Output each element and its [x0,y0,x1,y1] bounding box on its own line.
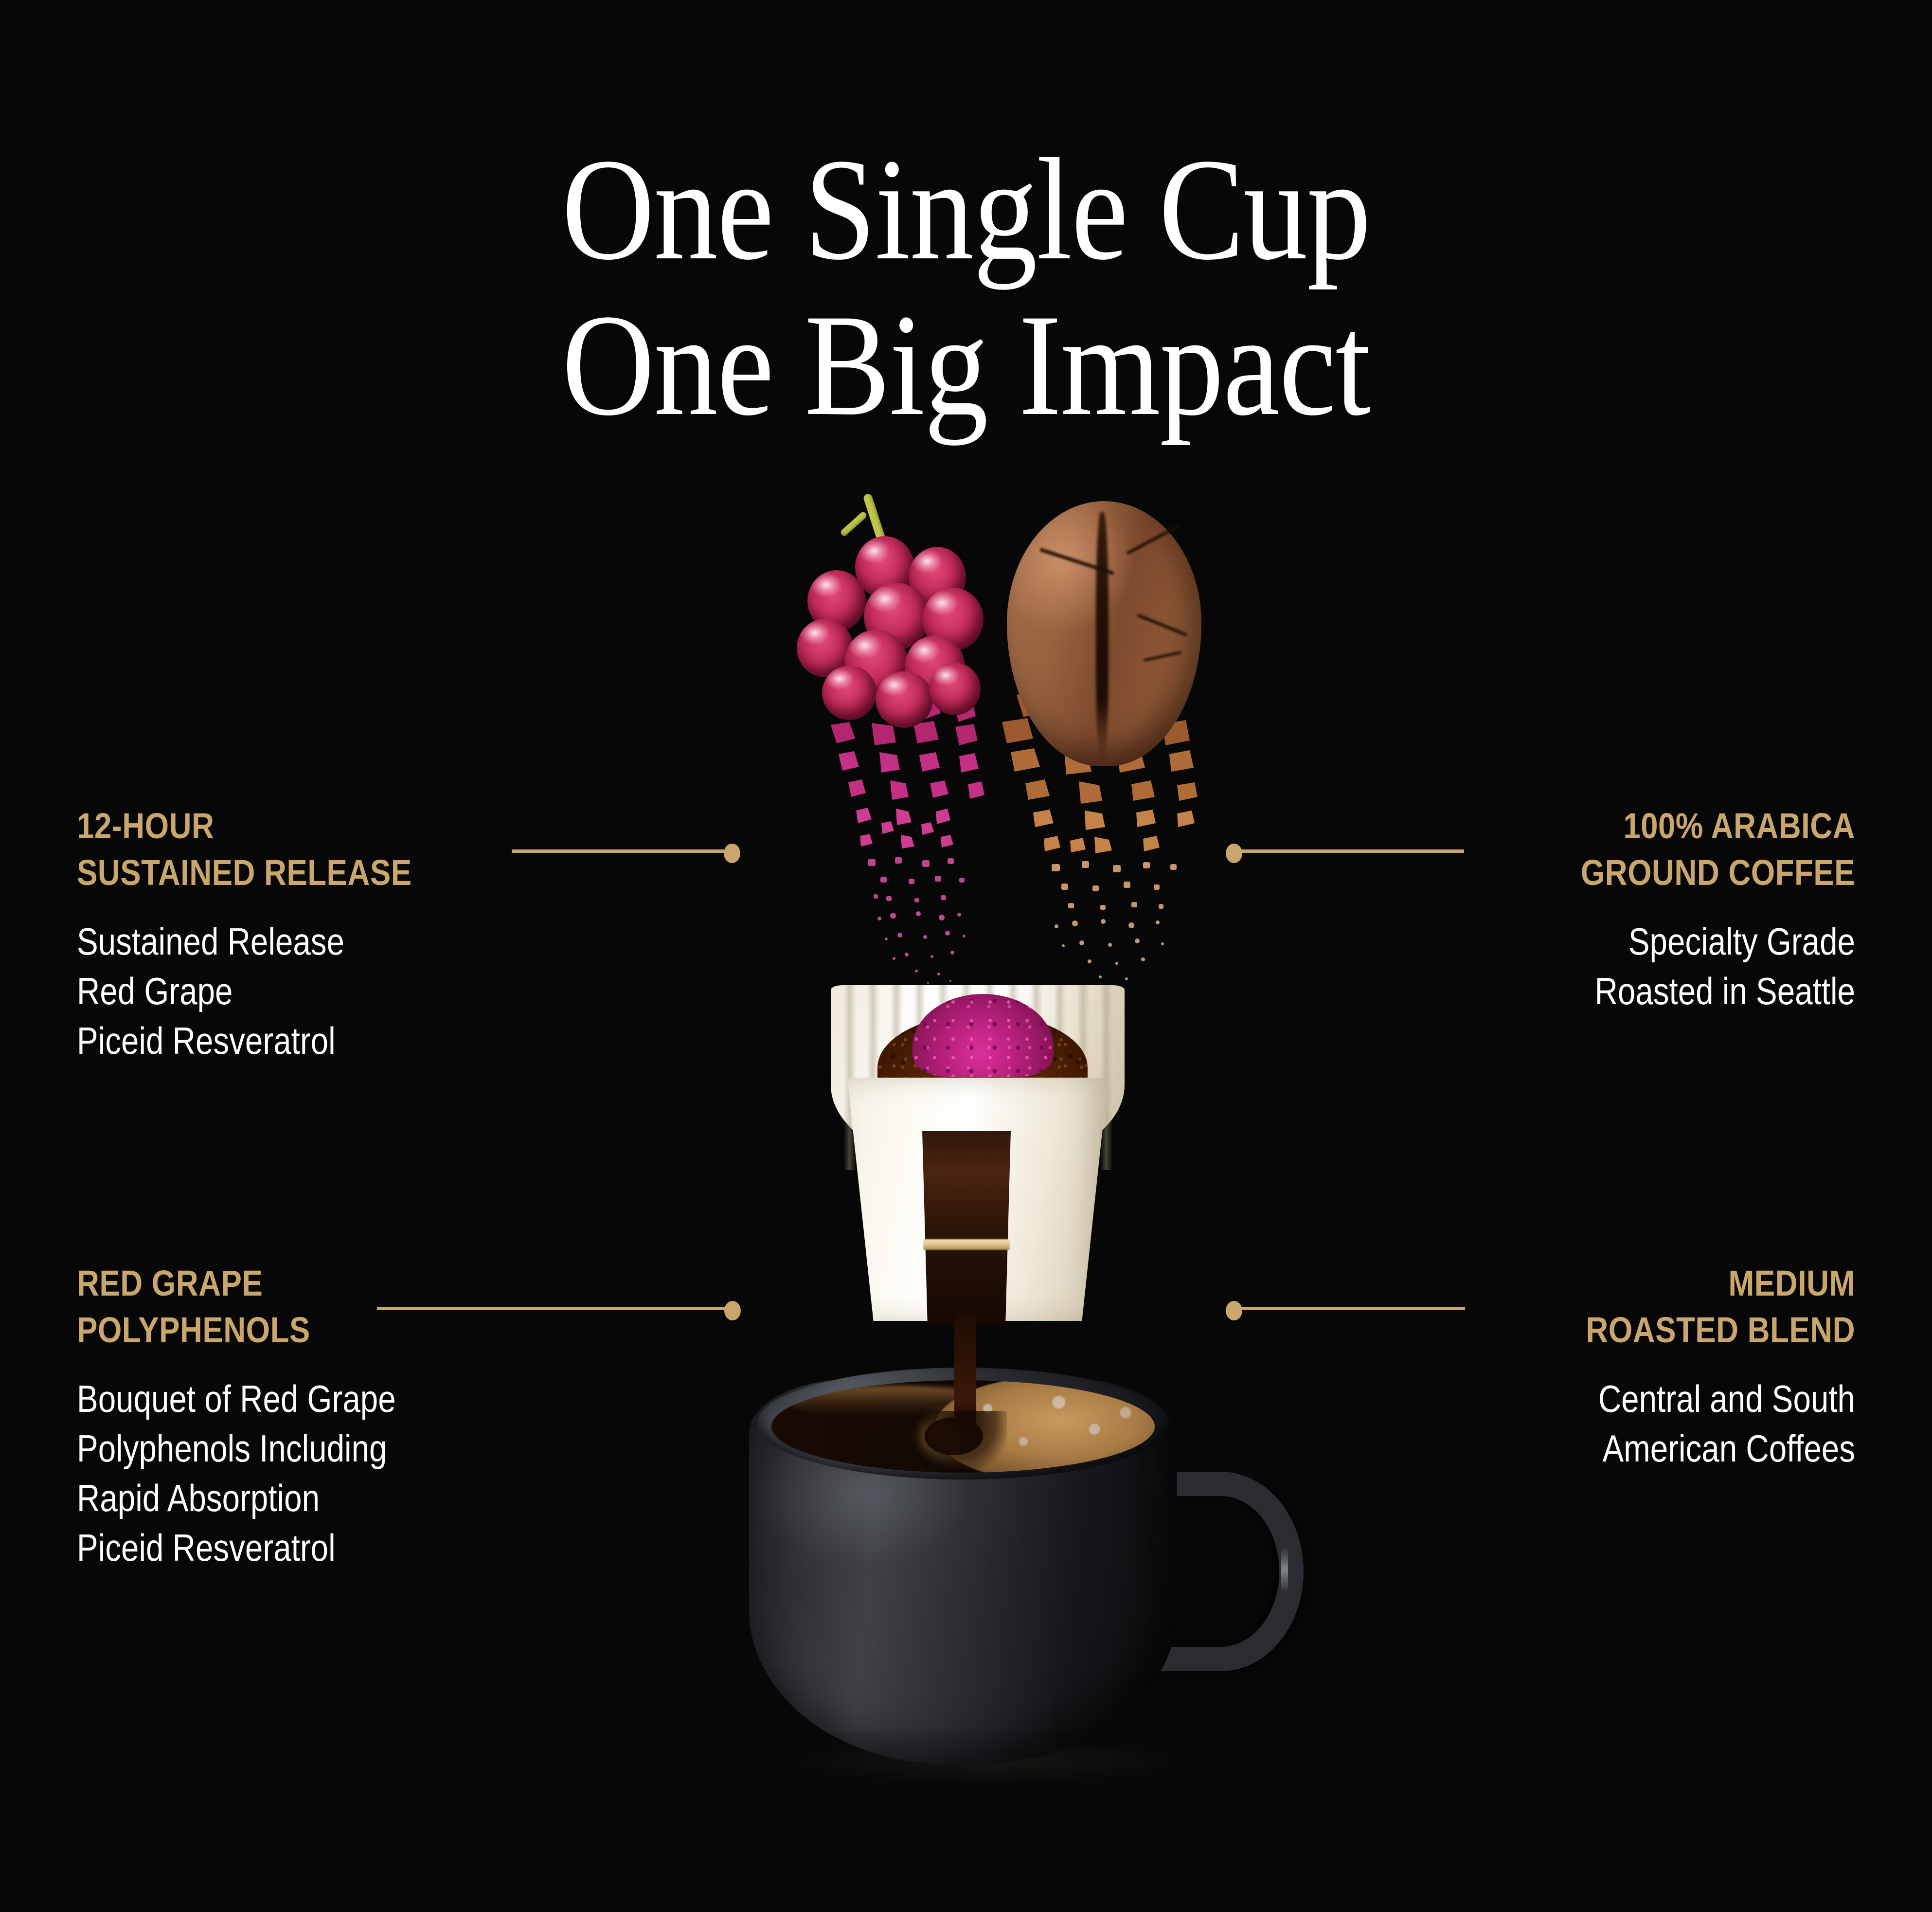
callout-body: Bouquet of Red Grape Polyphenols Includi… [77,1374,526,1572]
title-line-2: One Big Impact [116,287,1816,443]
callout-arabica-ground-coffee: 100% ARABICA GROUND COFFEE Specialty Gra… [1320,803,1855,1016]
grape-berry [822,666,877,720]
filter-crema-line [923,1239,1010,1250]
callout-heading-line-1: 100% ARABICA [1395,803,1855,849]
coffee-bean-center-crack [1096,512,1109,761]
callout-body: Specialty Grade Roasted in Seattle [1406,917,1855,1016]
callout-body-line: Central and South [1406,1374,1855,1424]
callout-heading-line-1: MEDIUM [1395,1260,1855,1307]
coffee-bean-fissure [1137,613,1188,636]
grape-cluster [792,525,1006,730]
callout-body-line: American Coffees [1406,1424,1855,1473]
connector-dot [724,1301,741,1320]
callout-heading-line-2: GROUND COFFEE [1395,849,1855,896]
coffee-bean [1007,501,1201,766]
callout-body: Sustained Release Red Grape Piceid Resve… [77,917,526,1065]
callout-body-line: Rapid Absorption [77,1473,526,1523]
pour-splash [924,1411,1007,1469]
callout-heading-line-2: POLYPHENOLS [77,1307,537,1353]
callout-medium-roasted-blend: MEDIUM ROASTED BLEND Central and South A… [1320,1260,1855,1473]
connector-dot [1226,1301,1242,1320]
callout-sustained-release: 12-HOUR SUSTAINED RELEASE Sustained Rele… [77,803,612,1065]
callout-body-line: Bouquet of Red Grape [77,1374,526,1424]
callout-body-line: Sustained Release [77,917,526,966]
grape-berry [876,671,933,728]
callout-heading-line-2: ROASTED BLEND [1395,1307,1855,1353]
grape-berry [929,663,981,715]
callout-red-grape-polyphenols: RED GRAPE POLYPHENOLS Bouquet of Red Gra… [77,1260,612,1572]
connector-dot [724,844,740,863]
coffee-pour-stream [954,1314,976,1425]
callout-body-line: Polyphenols Including [77,1424,526,1473]
callout-body: Central and South American Coffees [1406,1374,1855,1473]
title-line-1: One Single Cup [116,131,1816,287]
callout-heading-line-1: 12-HOUR [77,803,537,849]
callout-body-line: Red Grape [77,966,526,1016]
callout-heading-line-2: SUSTAINED RELEASE [77,849,537,896]
coffee-bean-fissure [1126,525,1179,556]
callout-body-line: Piceid Resveratrol [77,1523,526,1572]
connector-dot [1226,844,1242,863]
infographic-canvas: One Single Cup One Big Impact 12-HOUR SU… [0,0,1932,1912]
callout-body-line: Piceid Resveratrol [77,1016,526,1065]
callout-body-line: Specialty Grade [1406,917,1855,966]
coffee-filter-cup [827,956,1128,1350]
coffee-bean-fissure [1143,651,1181,662]
callout-heading-line-1: RED GRAPE [77,1260,537,1307]
grape-stem-branch [840,511,868,538]
callout-body-line: Roasted in Seattle [1406,966,1855,1016]
page-title: One Single Cup One Big Impact [0,131,1932,443]
filter-brew-window [922,1131,1011,1326]
